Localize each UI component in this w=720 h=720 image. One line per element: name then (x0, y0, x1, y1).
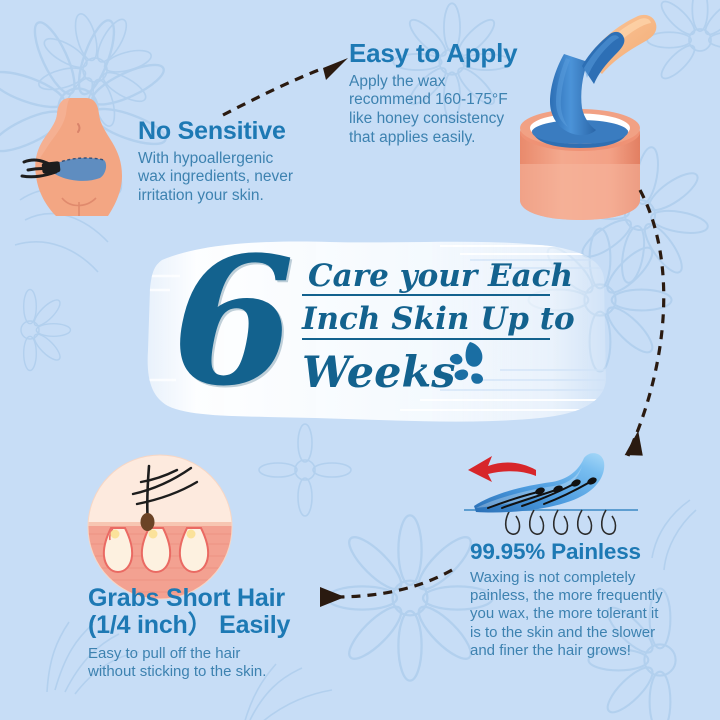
section-painless: 99.95% Painless Waxing is not completely… (470, 540, 685, 660)
section-no-sensitive: No Sensitive With hypoallergenic wax ing… (138, 118, 348, 206)
no-sensitive-body: With hypoallergenic wax ingredients, nev… (138, 150, 348, 207)
easy-to-apply-heading: Easy to Apply (349, 40, 549, 68)
no-sensitive-heading: No Sensitive (138, 118, 348, 145)
section-grabs-short-hair: Grabs Short Hair (1/4 inch） Easily Easy … (88, 585, 348, 682)
dashed-arrow-to-painless (628, 190, 664, 456)
dashed-arrow-to-easy-to-apply (223, 68, 324, 115)
painless-body: Waxing is not completely painless, the m… (470, 569, 685, 660)
grabs-short-hair-body: Easy to pull off the hair without sticki… (88, 645, 348, 682)
easy-to-apply-body: Apply the wax recommend 160-175°F like h… (349, 73, 549, 149)
section-easy-to-apply: Easy to Apply Apply the wax recommend 16… (349, 40, 549, 148)
infographic-poster: 6 Care your Each Inch Skin Up to Weeks (0, 0, 720, 720)
grabs-short-hair-heading: Grabs Short Hair (1/4 inch） Easily (88, 585, 348, 638)
painless-heading: 99.95% Painless (470, 540, 685, 564)
